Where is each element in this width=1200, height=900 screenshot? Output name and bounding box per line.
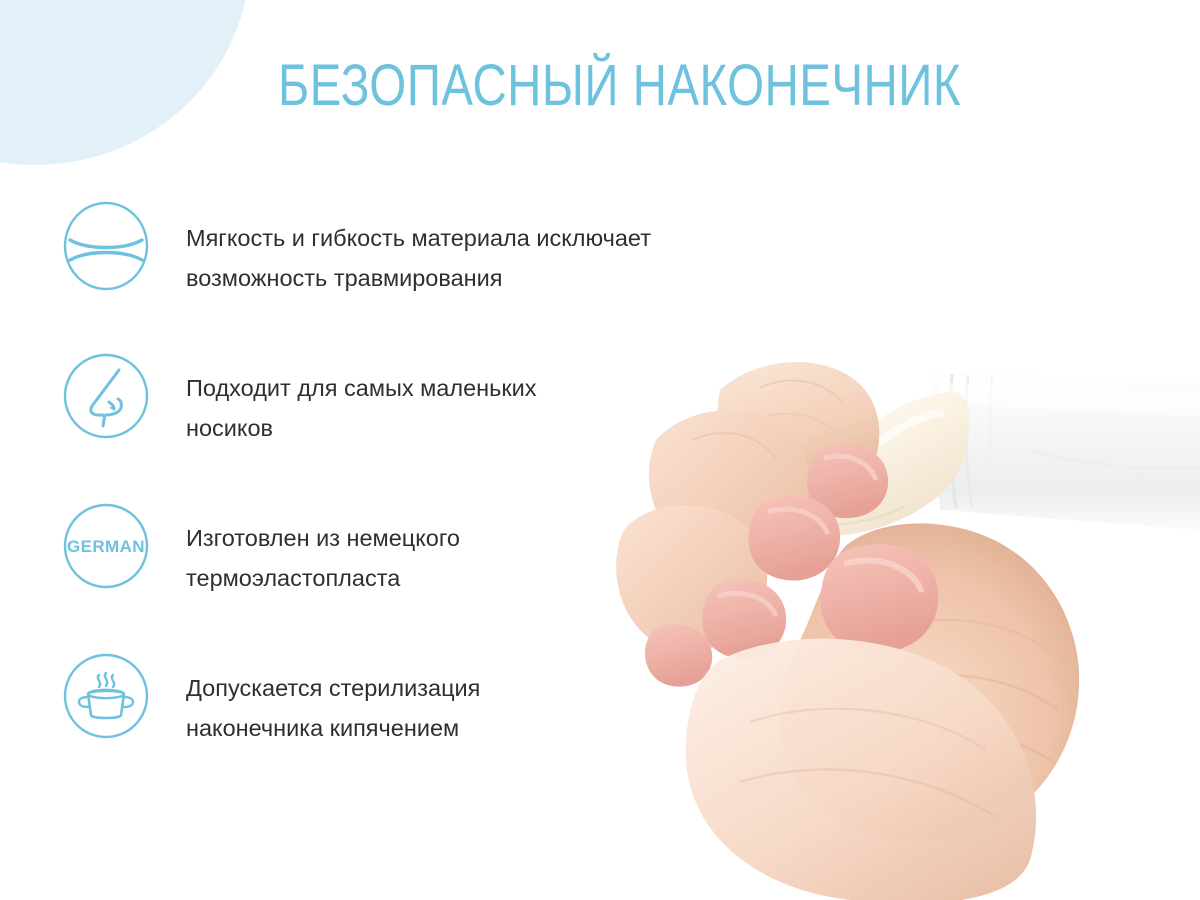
feature-text-line: возможность травмирования — [186, 258, 756, 298]
german-badge-icon: GERMAN — [62, 502, 150, 590]
flexible-soft-icon — [62, 202, 150, 290]
german-badge-label: GERMAN — [67, 537, 145, 556]
feature-text-line: Мягкость и гибкость материала исключает — [186, 218, 756, 258]
slide-root: БЕЗОПАСНЫЙ НАКОНЕЧНИК Мягкость и гибкост… — [0, 0, 1200, 900]
aspirator-clear-tube — [930, 370, 1200, 530]
product-photo — [600, 330, 1200, 900]
boiling-pot-icon — [62, 652, 150, 740]
nose-profile-icon — [62, 352, 150, 440]
feature-text: Мягкость и гибкость материала исключает … — [186, 218, 756, 298]
page-title: БЕЗОПАСНЫЙ НАКОНЕЧНИК — [278, 56, 961, 116]
decorative-corner-circle — [0, 0, 250, 165]
